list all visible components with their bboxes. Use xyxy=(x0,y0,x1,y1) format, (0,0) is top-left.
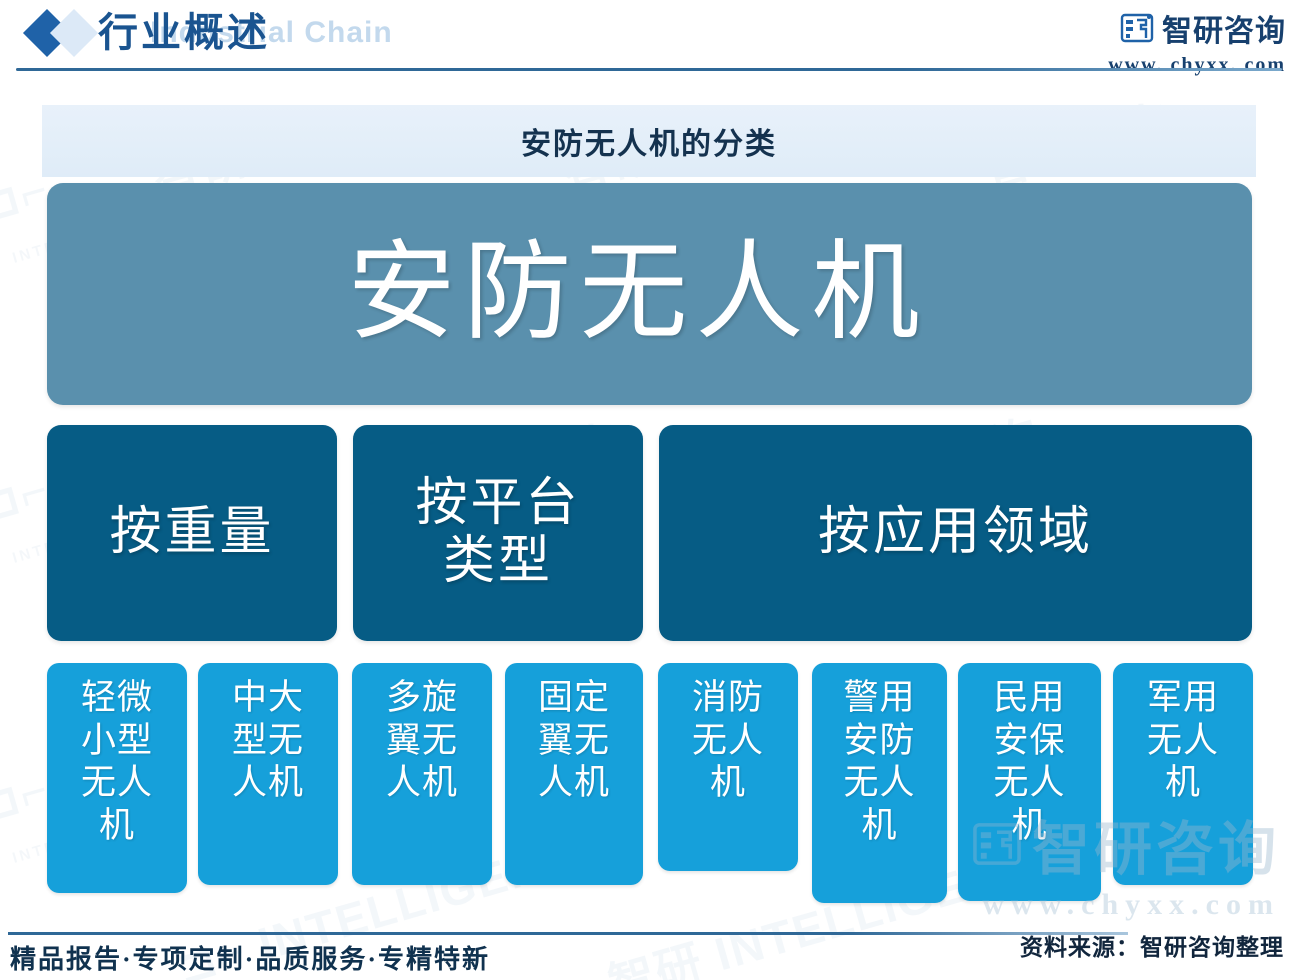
category-by-platform-type[interactable]: 按平台 类型 xyxy=(353,425,643,641)
chyxx-logo-icon xyxy=(1120,11,1154,45)
footer-divider xyxy=(8,932,1128,935)
header-divider xyxy=(16,68,1282,71)
brand-logo-row: 智研咨询 xyxy=(1108,6,1286,50)
leaf-node-label: 多旋 翼无 人机 xyxy=(386,677,458,805)
leaf-node-label: 轻微 小型 无人 机 xyxy=(81,677,153,848)
category-by-application[interactable]: 按应用领域 xyxy=(659,425,1252,641)
leaf-node-label: 军用 无人 机 xyxy=(1147,677,1219,805)
leaf-light-micro-small-uav[interactable]: 轻微 小型 无人 机 xyxy=(47,663,187,893)
brand-name: 智研咨询 xyxy=(1162,6,1286,50)
leaf-multirotor-uav[interactable]: 多旋 翼无 人机 xyxy=(352,663,492,885)
brand-logo-group: 智研咨询 www. chyxx. com xyxy=(1108,6,1286,77)
page-title: 行业概述 xyxy=(98,13,270,53)
category-node-label: 按应用领域 xyxy=(818,504,1093,562)
leaf-node-label: 消防 无人 机 xyxy=(692,677,764,805)
category-node-row: 按重量按平台 类型按应用领域 xyxy=(47,425,1252,641)
leaf-node-label: 警用 安防 无人 机 xyxy=(843,677,915,848)
leaf-node-label: 固定 翼无 人机 xyxy=(538,677,610,805)
footer-tagline: 精品报告·专项定制·品质服务·专精特新 xyxy=(10,939,490,976)
leaf-military-uav[interactable]: 军用 无人 机 xyxy=(1113,663,1253,885)
brand-url: www. chyxx. com xyxy=(1108,54,1286,77)
category-node-label: 按重量 xyxy=(109,504,274,562)
hero-node-label: 安防无人机 xyxy=(347,240,927,348)
leaf-civil-security-uav[interactable]: 民用 安保 无人 机 xyxy=(958,663,1101,901)
leaf-medium-large-uav[interactable]: 中大 型无 人机 xyxy=(198,663,338,885)
header-left-group: 行业概述 xyxy=(24,4,270,62)
leaf-firefighting-uav[interactable]: 消防 无人 机 xyxy=(658,663,798,871)
diamond-icon xyxy=(24,9,98,57)
leaf-node-label: 民用 安保 无人 机 xyxy=(993,677,1065,848)
hero-node-security-uav: 安防无人机 xyxy=(47,183,1252,405)
diamond-icon-pale xyxy=(50,9,98,57)
leaf-police-security-uav[interactable]: 警用 安防 无人 机 xyxy=(812,663,947,903)
classification-diagram: 安防无人机 按重量按平台 类型按应用领域 轻微 小型 无人 机中大 型无 人机多… xyxy=(0,0,1298,980)
page-header: 行业概述 Industrial Chain 智研咨询 www. chyxx. c… xyxy=(0,0,1298,76)
source-attribution: 资料来源：智研咨询整理 xyxy=(1020,928,1284,962)
leaf-node-row: 轻微 小型 无人 机中大 型无 人机多旋 翼无 人机固定 翼无 人机消防 无人 … xyxy=(0,663,1298,913)
category-node-label: 按平台 类型 xyxy=(415,475,580,591)
category-by-weight[interactable]: 按重量 xyxy=(47,425,337,641)
leaf-fixed-wing-uav[interactable]: 固定 翼无 人机 xyxy=(505,663,643,885)
leaf-node-label: 中大 型无 人机 xyxy=(232,677,304,805)
